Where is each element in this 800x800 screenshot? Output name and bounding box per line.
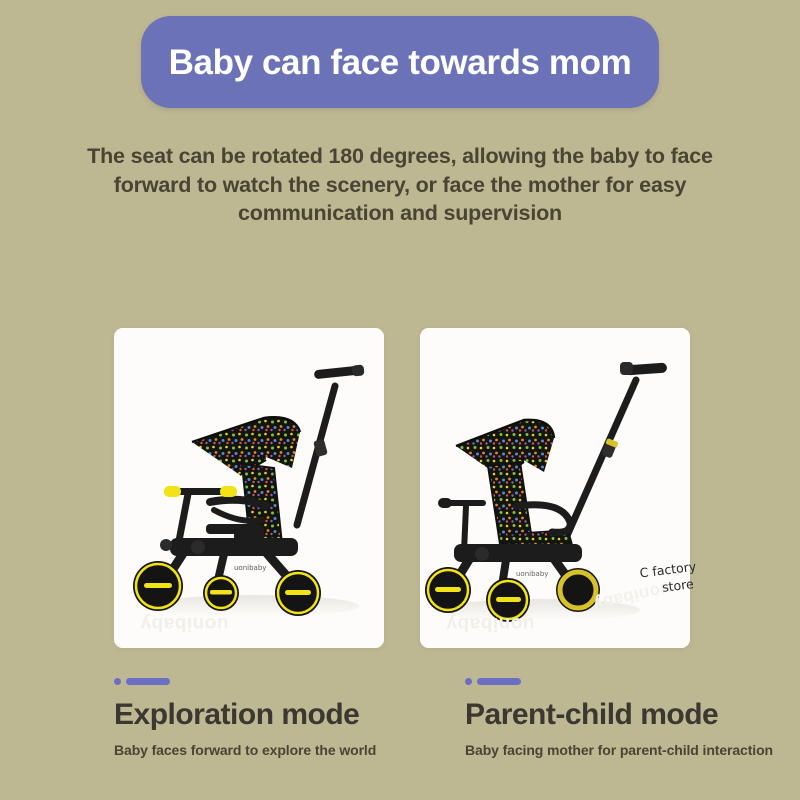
header-banner: Baby can face towards mom xyxy=(141,16,659,108)
svg-text:uonibaby: uonibaby xyxy=(234,564,266,572)
store-watermark: C factory store xyxy=(632,558,706,600)
subtitle-line-3: communication and supervision xyxy=(40,199,760,228)
mode-description: Baby faces forward to explore the world xyxy=(114,742,376,759)
mode-description: Baby facing mother for parent-child inte… xyxy=(465,742,773,759)
wheel-front-left xyxy=(133,561,183,611)
marker-bar-icon xyxy=(126,678,170,685)
stroller-forward-facing-illustration: uonibaby xyxy=(114,328,384,648)
stroller-parent-facing-illustration: uonibaby xyxy=(420,328,690,648)
marker-decoration xyxy=(465,676,521,686)
mode-title: Exploration mode xyxy=(114,698,359,733)
marker-bar-icon xyxy=(477,678,521,685)
product-card-exploration: uonibaby uonibaby xyxy=(114,328,384,648)
product-card-parent-child: uonibaby uonibaby uonibaby xyxy=(420,328,690,648)
wheel-middle-left xyxy=(203,575,239,611)
subtitle-line-1: The seat can be rotated 180 degrees, all… xyxy=(40,142,760,171)
mode-caption-parent-child: Parent-child mode Baby facing mother for… xyxy=(449,676,800,786)
marker-dot-icon xyxy=(465,678,472,685)
marker-decoration xyxy=(114,676,170,686)
product-cards-row: uonibaby uonibaby xyxy=(114,328,690,648)
mode-title: Parent-child mode xyxy=(465,698,718,733)
subtitle-line-2: forward to watch the scenery, or face th… xyxy=(40,171,760,200)
mode-captions-row: Exploration mode Baby faces forward to e… xyxy=(0,676,800,786)
footrest-left xyxy=(206,524,246,534)
wheel-rear-left xyxy=(275,570,321,616)
mode-caption-exploration: Exploration mode Baby faces forward to e… xyxy=(0,676,449,786)
subtitle-block: The seat can be rotated 180 degrees, all… xyxy=(40,142,760,228)
banner-title: Baby can face towards mom xyxy=(169,45,632,80)
wheel-middle-right xyxy=(486,578,530,622)
wheel-rear-right xyxy=(556,568,600,612)
header-banner-container: Baby can face towards mom xyxy=(0,16,800,108)
svg-text:uonibaby: uonibaby xyxy=(516,570,548,578)
marker-dot-icon xyxy=(114,678,121,685)
wheel-front-right xyxy=(425,567,471,613)
